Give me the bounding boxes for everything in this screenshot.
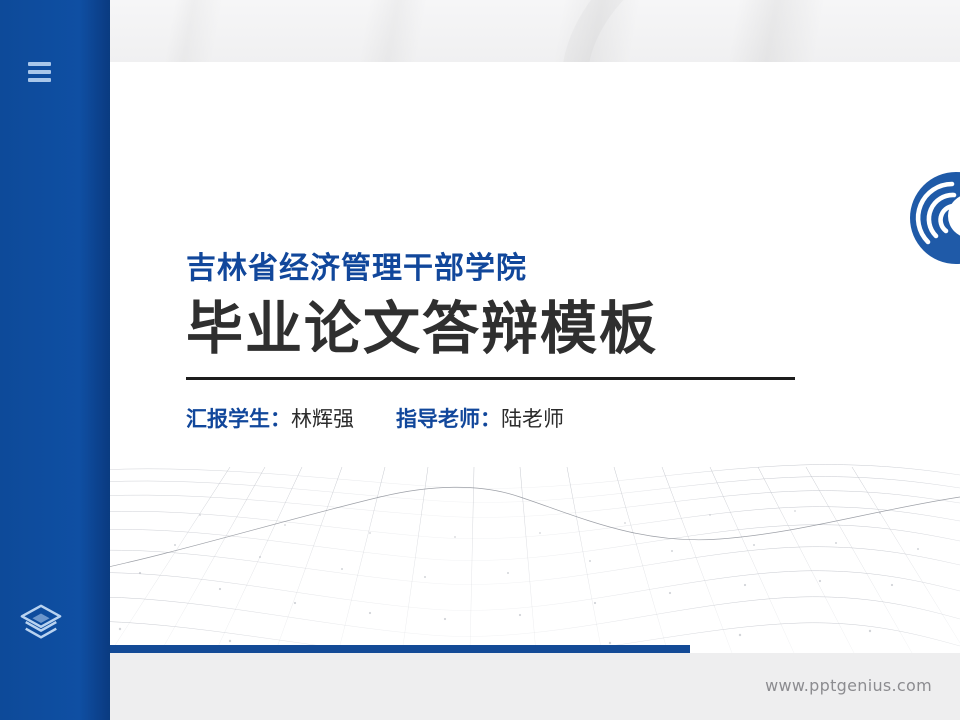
title-divider-rule (186, 377, 795, 380)
hamburger-bar-2 (28, 70, 51, 74)
school-name: 吉林省经济管理干部学院 (186, 252, 826, 285)
title-text-block: 吉林省经济管理干部学院 毕业论文答辩模板 汇报学生：林辉强指导老师：陆老师 (186, 252, 826, 433)
hamburger-bar-3 (28, 78, 51, 82)
stacked-layers-icon[interactable] (18, 602, 64, 644)
advisor-name: 陆老师 (501, 407, 564, 431)
wireframe-terrain-graphic (80, 453, 960, 653)
byline: 汇报学生：林辉强指导老师：陆老师 (186, 406, 826, 433)
student-label: 汇报学生： (186, 407, 291, 431)
hamburger-icon[interactable] (28, 62, 51, 82)
bottom-accent-bar (70, 645, 690, 653)
content-card: 吉林省经济管理干部学院 毕业论文答辩模板 汇报学生：林辉强指导老师：陆老师 (80, 62, 960, 653)
watermark-url: www.pptgenius.com (765, 676, 932, 695)
advisor-label: 指导老师： (396, 407, 501, 431)
background-texture-streaks (0, 0, 960, 64)
student-name: 林辉强 (291, 407, 354, 431)
hamburger-bar-1 (28, 62, 51, 66)
left-sidebar-panel (0, 0, 110, 720)
university-emblem-logo (908, 170, 960, 266)
page-title: 毕业论文答辩模板 (186, 299, 826, 361)
slide-canvas: 吉林省经济管理干部学院 毕业论文答辩模板 汇报学生：林辉强指导老师：陆老师 ww… (0, 0, 960, 720)
